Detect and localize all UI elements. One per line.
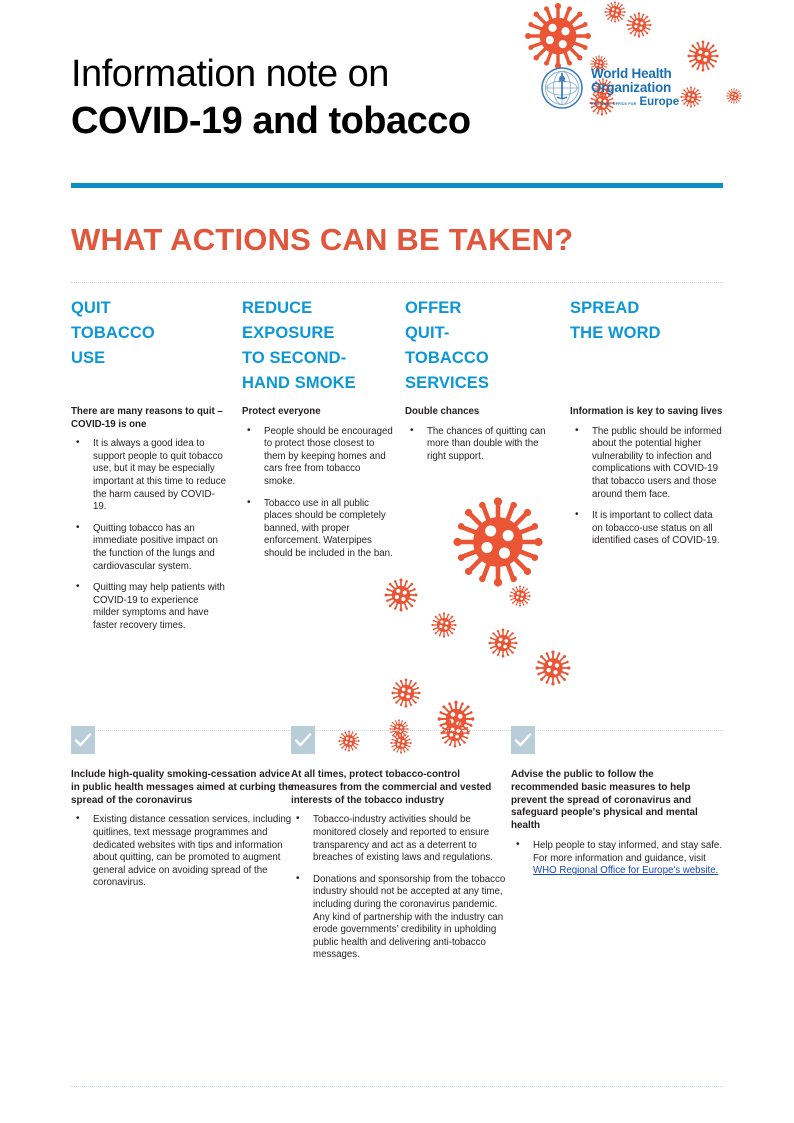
bullet-item: Tobacco-industry activities should be mo… bbox=[291, 814, 506, 864]
recommendation-heading: Advise the public to follow the recommen… bbox=[511, 769, 723, 833]
coronavirus-icon bbox=[384, 578, 418, 612]
column-heading-line: EXPOSURE bbox=[242, 321, 392, 346]
coronavirus-icon bbox=[391, 678, 421, 708]
column-heading-line: TO SECOND- bbox=[242, 346, 392, 371]
bullet-item: People should be encouraged to protect t… bbox=[242, 426, 394, 489]
column-heading-line: HAND SMOKE bbox=[242, 371, 392, 396]
who-logo-region: Europe bbox=[639, 97, 679, 109]
divider-dotted-top bbox=[71, 282, 723, 284]
column-heading: OFFERQUIT-TOBACCOSERVICES bbox=[405, 296, 553, 396]
check-icon bbox=[511, 726, 535, 754]
check-icon bbox=[291, 726, 315, 754]
who-logo-line1: World Health bbox=[591, 67, 679, 81]
column-heading-line: USE bbox=[71, 346, 226, 371]
coronavirus-icon bbox=[604, 1, 626, 23]
column-bullet-list: The chances of quitting can more than do… bbox=[405, 426, 555, 464]
coronavirus-icon bbox=[509, 585, 531, 607]
recommendation-heading: At all times, protect tobacco-control me… bbox=[291, 769, 506, 807]
bullet-item: Quitting may help patients with COVID-19… bbox=[71, 582, 226, 632]
column-heading-line: OFFER bbox=[405, 296, 553, 321]
action-column-spread-the-word: SPREADTHE WORD Information is key to sav… bbox=[570, 296, 723, 346]
column-heading: REDUCEEXPOSURETO SECOND-HAND SMOKE bbox=[242, 296, 392, 396]
bullet-item: Quitting tobacco has an immediate positi… bbox=[71, 523, 226, 573]
bullet-item: The public should be informed about the … bbox=[570, 426, 725, 502]
column-heading-line: TOBACCO bbox=[71, 321, 226, 346]
bullet-item: Existing distance cessation services, in… bbox=[71, 814, 296, 890]
recommendation-column-protect-tobacco-control: At all times, protect tobacco-control me… bbox=[291, 726, 506, 971]
who-logo-text: World Health Organization REGIONAL OFFIC… bbox=[591, 67, 679, 108]
column-heading-line: SPREAD bbox=[570, 296, 723, 321]
bullet-item: Donations and sponsorship from the tobac… bbox=[291, 874, 506, 962]
column-heading-line: TOBACCO bbox=[405, 346, 553, 371]
column-heading: QUITTOBACCOUSE bbox=[71, 296, 226, 371]
bullet-item: It is always a good idea to support peop… bbox=[71, 438, 226, 514]
who-logo-line2: Organization bbox=[591, 81, 679, 95]
coronavirus-icon bbox=[452, 496, 544, 588]
recommendation-bullet-list: Tobacco-industry activities should be mo… bbox=[291, 814, 506, 962]
column-heading-line: REDUCE bbox=[242, 296, 392, 321]
check-icon bbox=[71, 726, 95, 754]
column-heading-line: QUIT bbox=[71, 296, 226, 321]
bullet-item: The chances of quitting can more than do… bbox=[405, 426, 555, 464]
who-emblem-icon bbox=[540, 66, 584, 110]
column-subheading: Protect everyone bbox=[242, 406, 394, 419]
recommendation-bullet-list: Existing distance cessation services, in… bbox=[71, 814, 296, 890]
column-bullet-list: People should be encouraged to protect t… bbox=[242, 426, 394, 561]
coronavirus-icon bbox=[535, 650, 571, 686]
coronavirus-icon bbox=[431, 612, 457, 638]
action-column-offer-quit-services: OFFERQUIT-TOBACCOSERVICES Double chances… bbox=[405, 296, 553, 396]
recommendation-column-advise-public: Advise the public to follow the recommen… bbox=[511, 726, 723, 887]
bullet-item: Help people to stay informed, and stay s… bbox=[511, 840, 723, 878]
recommendation-column-cessation-advice: Include high-quality smoking-cessation a… bbox=[71, 726, 296, 899]
section-title: WHAT ACTIONS CAN BE TAKEN? bbox=[71, 222, 751, 258]
column-bullet-list: It is always a good idea to support peop… bbox=[71, 438, 226, 632]
who-europe-website-link[interactable]: WHO Regional Office for Europe's website… bbox=[533, 865, 718, 876]
column-heading: SPREADTHE WORD bbox=[570, 296, 723, 346]
column-heading-line: QUIT- bbox=[405, 321, 553, 346]
coronavirus-icon bbox=[488, 628, 518, 658]
column-subheading: Information is key to saving lives bbox=[570, 406, 725, 419]
action-column-reduce-exposure: REDUCEEXPOSURETO SECOND-HAND SMOKE Prote… bbox=[242, 296, 392, 396]
recommendation-bullet-list: Help people to stay informed, and stay s… bbox=[511, 840, 723, 878]
column-heading-line: SERVICES bbox=[405, 371, 553, 396]
recommendation-heading: Include high-quality smoking-cessation a… bbox=[71, 769, 296, 807]
action-column-quit-tobacco-use: QUITTOBACCOUSE There are many reasons to… bbox=[71, 296, 226, 371]
header-divider bbox=[71, 183, 723, 188]
column-subheading: Double chances bbox=[405, 406, 555, 419]
bullet-item: It is important to collect data on tobac… bbox=[570, 510, 725, 548]
column-bullet-list: The public should be informed about the … bbox=[570, 426, 725, 548]
coronavirus-icon bbox=[726, 88, 742, 104]
poster-page: Information note on COVID-19 and tobacco… bbox=[0, 0, 794, 1123]
who-logo-regional-label: REGIONAL OFFICE FOR bbox=[591, 103, 636, 109]
column-subheading: There are many reasons to quit – COVID-1… bbox=[71, 406, 226, 431]
column-heading-line: THE WORD bbox=[570, 321, 723, 346]
coronavirus-icon bbox=[626, 12, 652, 38]
divider-dotted-bottom bbox=[71, 1086, 723, 1088]
bullet-item: Tobacco use in all public places should … bbox=[242, 498, 394, 561]
who-logo: World Health Organization REGIONAL OFFIC… bbox=[540, 62, 682, 114]
